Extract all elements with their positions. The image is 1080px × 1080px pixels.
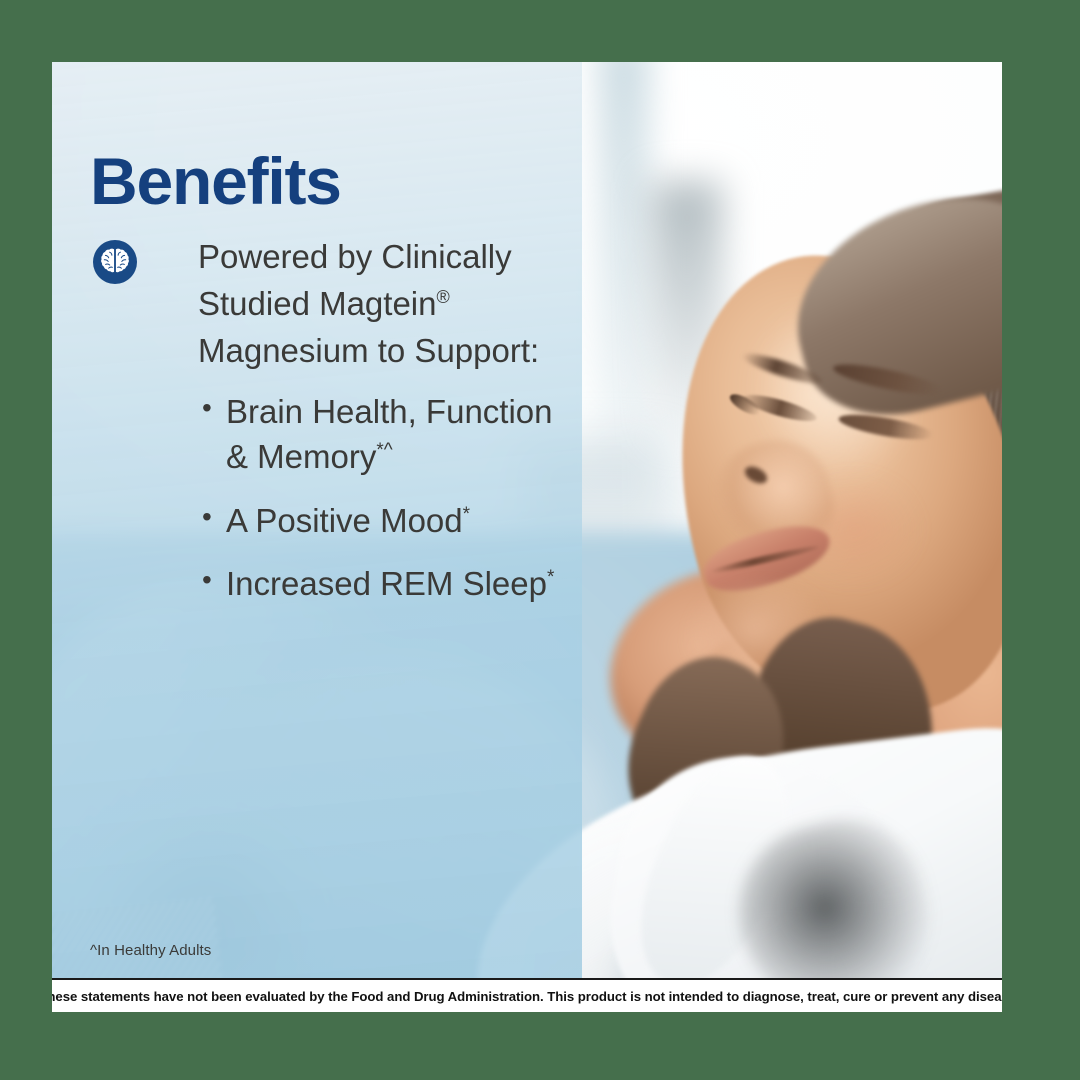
footnote-mark: * xyxy=(547,567,554,588)
list-item-text: Increased REM Sleep xyxy=(226,565,547,602)
outer-frame: Benefits xyxy=(0,0,1080,1080)
benefits-card: Benefits xyxy=(52,62,1002,1012)
lede-line-1: Powered by Clinically xyxy=(198,238,512,275)
footnote-mark: * xyxy=(463,504,470,525)
fda-disclaimer-bar: *These statements have not been evaluate… xyxy=(52,978,1002,1012)
brain-icon xyxy=(93,240,137,284)
window-pane-highlight xyxy=(598,62,650,472)
fda-disclaimer-text: *These statements have not been evaluate… xyxy=(52,989,1002,1004)
list-item-text: A Positive Mood xyxy=(226,502,463,539)
lede-text: Powered by Clinically Studied Magtein® M… xyxy=(198,234,558,375)
list-item: Increased REM Sleep* xyxy=(202,561,558,607)
footnote-mark: *^ xyxy=(376,440,392,461)
list-item: Brain Health, Function & Memory*^ xyxy=(202,389,558,480)
registered-mark: ® xyxy=(437,287,450,307)
healthy-adults-footnote: ^In Healthy Adults xyxy=(90,942,211,959)
benefit-list: Brain Health, Function & Memory*^ A Posi… xyxy=(202,389,558,607)
list-item: A Positive Mood* xyxy=(202,498,558,544)
benefit-block: Powered by Clinically Studied Magtein® M… xyxy=(90,234,558,625)
panel-content: Benefits xyxy=(52,62,582,1012)
page-title: Benefits xyxy=(90,148,341,214)
list-item-text: Brain Health, Function & Memory xyxy=(226,393,553,476)
lede-line-3: Magnesium to Support: xyxy=(198,332,539,369)
lede-line-2: Studied Magtein xyxy=(198,285,437,322)
